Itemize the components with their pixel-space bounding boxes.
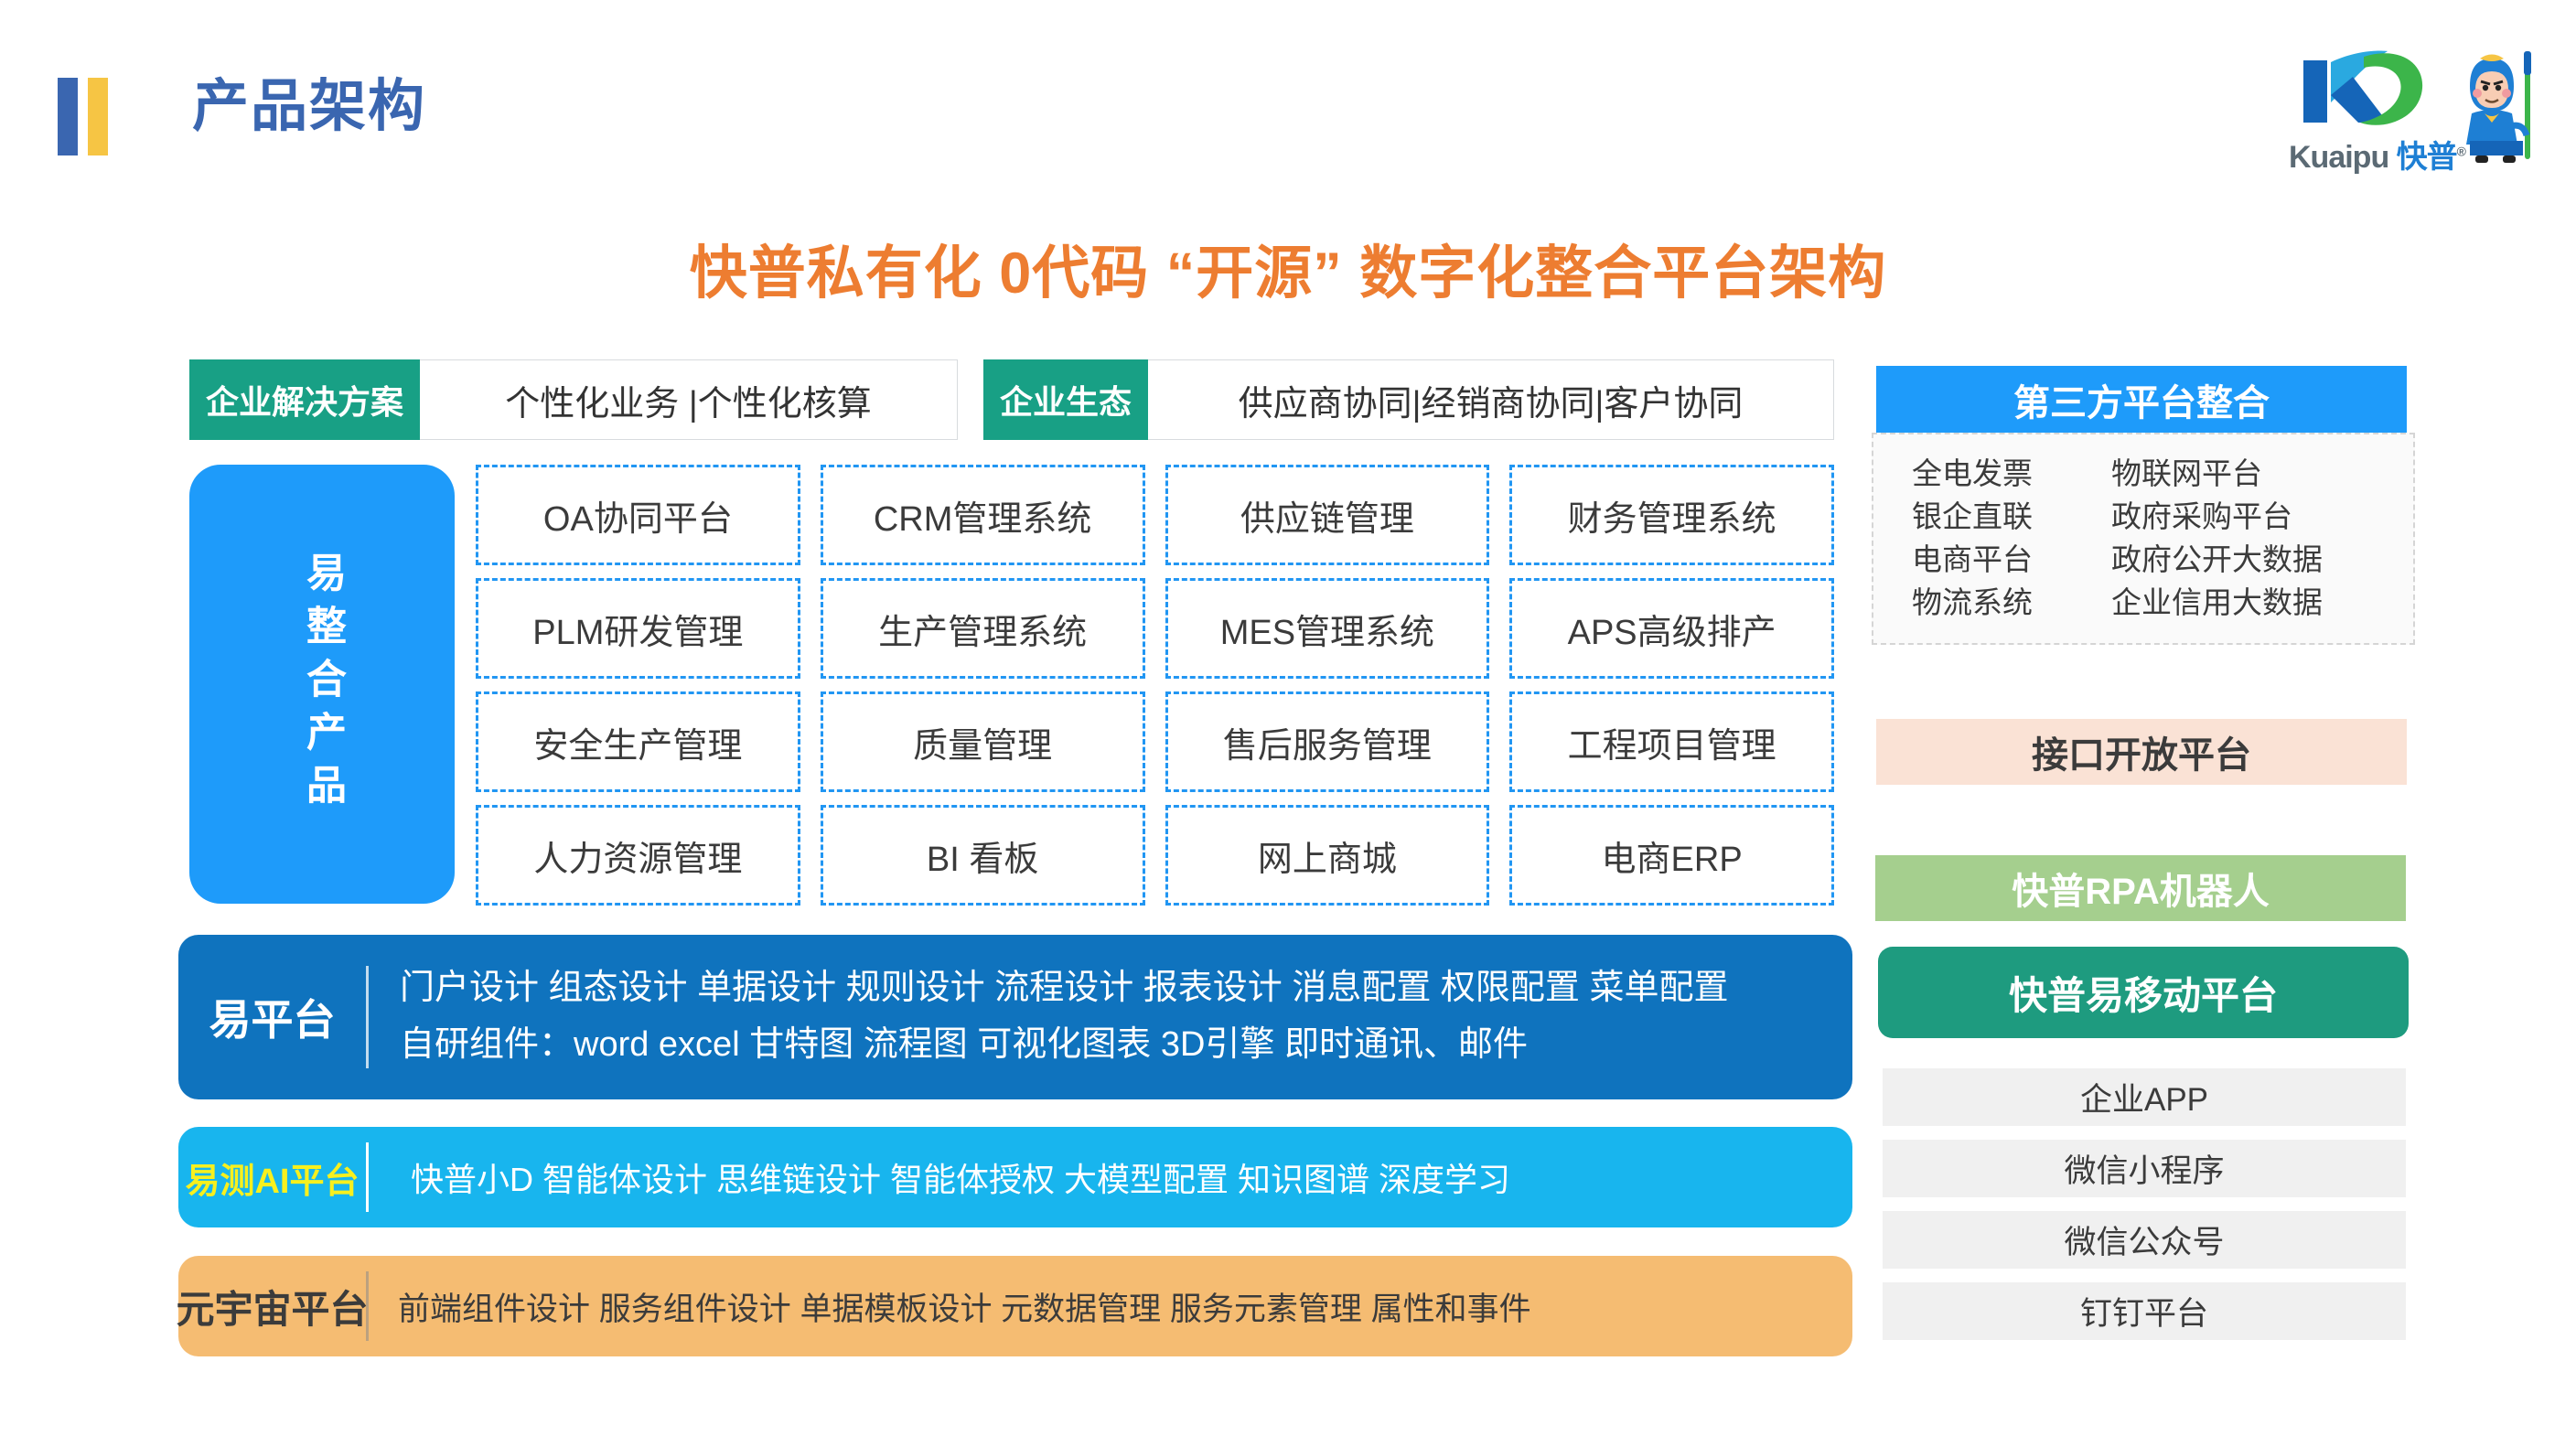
third-party-item: 政府采购平台 (2111, 496, 2323, 539)
api-open-platform-block: 接口开放平台 (1876, 719, 2407, 785)
product-cell[interactable]: 电商ERP (1509, 805, 1834, 906)
logo-wordmark: Kuaipu 快普® (2289, 132, 2465, 177)
header-accent-bar-yellow (88, 78, 108, 155)
product-cell[interactable]: CRM管理系统 (821, 465, 1145, 565)
page-title: 产品架构 (192, 79, 426, 135)
channel-item-enterprise-app[interactable]: 企业APP (1883, 1068, 2406, 1126)
enterprise-ecology-tag: 企业生态 (983, 359, 1148, 440)
third-party-column-right: 物联网平台 政府采购平台 政府公开大数据 企业信用大数据 (2104, 453, 2323, 624)
metaverse-platform-divider (366, 1271, 369, 1341)
metaverse-platform-band: 元宇宙平台 前端组件设计 服务组件设计 单据模板设计 元数据管理 服务元素管理 … (178, 1256, 1852, 1356)
product-cell[interactable]: 网上商城 (1165, 805, 1490, 906)
product-cell[interactable]: 质量管理 (821, 691, 1145, 792)
main-title: 快普私有化 0代码 “开源” 数字化整合平台架构 (0, 227, 2576, 310)
ai-platform-label: 易测AI平台 (178, 1152, 366, 1203)
product-cell[interactable]: MES管理系统 (1165, 578, 1490, 679)
product-cell[interactable]: 财务管理系统 (1509, 465, 1834, 565)
third-party-item: 物联网平台 (2111, 453, 2323, 496)
channel-item-dingtalk[interactable]: 钉钉平台 (1883, 1282, 2406, 1340)
metaverse-platform-label: 元宇宙平台 (178, 1279, 366, 1334)
third-party-item: 企业信用大数据 (2111, 582, 2323, 625)
third-party-integration-list: 全电发票 银企直联 电商平台 物流系统 物联网平台 政府采购平台 政府公开大数据… (1872, 433, 2415, 645)
channel-item-wechat-official-account[interactable]: 微信公众号 (1883, 1211, 2406, 1269)
enterprise-ecology-items: 供应商协同|经销商协同|客户协同 (1148, 359, 1834, 440)
product-cell[interactable]: PLM研发管理 (476, 578, 800, 679)
ai-platform-band: 易测AI平台 快普小D 智能体设计 思维链设计 智能体授权 大模型配置 知识图谱… (178, 1127, 1852, 1227)
integrated-products-label-block: 易整合产品 (189, 465, 455, 904)
product-grid: OA协同平台 CRM管理系统 供应链管理 财务管理系统 PLM研发管理 生产管理… (476, 465, 1834, 906)
third-party-item: 全电发票 (1912, 453, 2104, 496)
third-party-item: 电商平台 (1912, 539, 2104, 582)
product-architecture-diagram: 产品架构 Kuaipu 快普® (0, 0, 2576, 1447)
enterprise-solution-items: 个性化业务 |个性化核算 (420, 359, 958, 440)
product-cell[interactable]: 安全生产管理 (476, 691, 800, 792)
product-cell[interactable]: 工程项目管理 (1509, 691, 1834, 792)
e-platform-items: 门户设计 组态设计 单据设计 规则设计 流程设计 报表设计 消息配置 权限配置 … (369, 960, 1852, 1073)
rpa-robot-block: 快普RPA机器人 (1875, 855, 2406, 921)
product-cell[interactable]: APS高级排产 (1509, 578, 1834, 679)
product-cell[interactable]: 人力资源管理 (476, 805, 800, 906)
product-cell[interactable]: OA协同平台 (476, 465, 800, 565)
product-cell[interactable]: 生产管理系统 (821, 578, 1145, 679)
third-party-item: 银企直联 (1912, 496, 2104, 539)
e-platform-line-2: 自研组件：word excel 甘特图 流程图 可视化图表 3D引擎 即时通讯、… (400, 1017, 1852, 1074)
third-party-item: 物流系统 (1912, 582, 2104, 625)
ai-platform-items: 快普小D 智能体设计 思维链设计 智能体授权 大模型配置 知识图谱 深度学习 (369, 1153, 1852, 1201)
e-platform-label: 易平台 (178, 987, 366, 1047)
e-platform-band: 易平台 门户设计 组态设计 单据设计 规则设计 流程设计 报表设计 消息配置 权… (178, 935, 1852, 1099)
e-platform-line-1: 门户设计 组态设计 单据设计 规则设计 流程设计 报表设计 消息配置 权限配置 … (400, 960, 1852, 1017)
header-accent-bar-blue (58, 78, 78, 155)
metaverse-platform-items: 前端组件设计 服务组件设计 单据模板设计 元数据管理 服务元素管理 属性和事件 (369, 1283, 1852, 1330)
third-party-column-left: 全电发票 银企直联 电商平台 物流系统 (1873, 453, 2104, 624)
page-header: 产品架构 Kuaipu 快普® (0, 0, 2576, 192)
monkey-mascot-icon (2457, 49, 2541, 171)
enterprise-solution-bar: 企业解决方案 个性化业务 |个性化核算 (189, 359, 958, 440)
product-cell[interactable]: 售后服务管理 (1165, 691, 1490, 792)
kuaipu-logo: Kuaipu 快普® (2278, 48, 2543, 166)
kp-monogram-icon (2296, 48, 2461, 139)
channel-item-wechat-miniprogram[interactable]: 微信小程序 (1883, 1140, 2406, 1197)
third-party-item: 政府公开大数据 (2111, 539, 2323, 582)
product-cell[interactable]: 供应链管理 (1165, 465, 1490, 565)
integrated-products-label: 易整合产品 (302, 552, 342, 817)
product-cell[interactable]: BI 看板 (821, 805, 1145, 906)
third-party-integration-title: 第三方平台整合 (1876, 366, 2407, 433)
mobile-platform-block: 快普易移动平台 (1878, 947, 2409, 1038)
enterprise-ecology-bar: 企业生态 供应商协同|经销商协同|客户协同 (983, 359, 1834, 440)
enterprise-solution-tag: 企业解决方案 (189, 359, 420, 440)
